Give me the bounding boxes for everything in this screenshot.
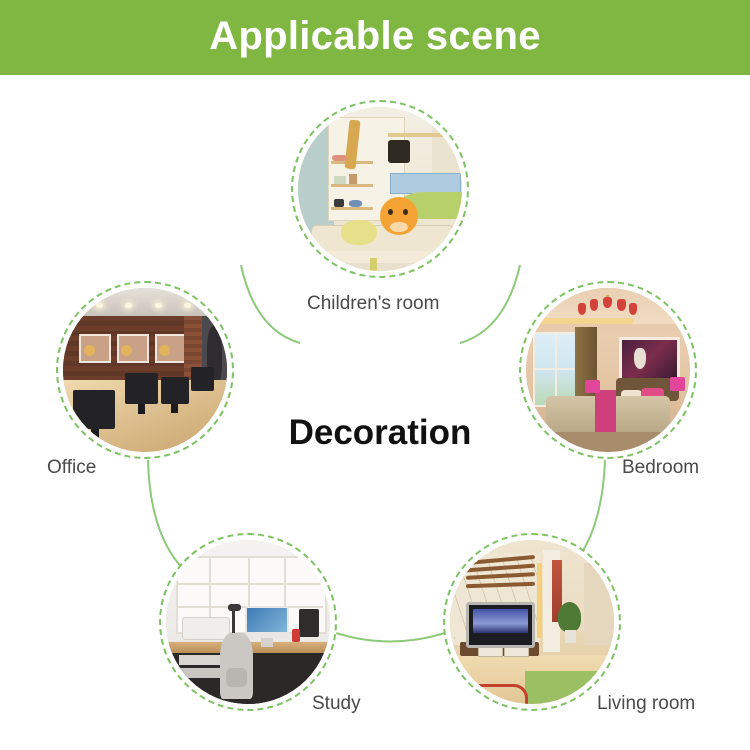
arc-office-children	[241, 265, 300, 343]
label-children-room: Children's room	[307, 293, 439, 315]
label-bedroom: Bedroom	[622, 457, 699, 479]
arc-children-bedroom	[460, 265, 520, 343]
photo-office	[63, 288, 227, 452]
photo-bedroom	[526, 288, 690, 452]
header-banner: Applicable scene	[0, 0, 750, 75]
label-study: Study	[312, 693, 361, 715]
node-children-room[interactable]	[291, 100, 469, 278]
center-label: Decoration	[255, 413, 505, 453]
photo-living-room	[450, 540, 614, 704]
page-title: Applicable scene	[0, 0, 750, 75]
photo-study	[166, 540, 330, 704]
node-bedroom[interactable]	[519, 281, 697, 459]
label-office: Office	[47, 457, 96, 479]
arc-study-living	[336, 633, 445, 642]
node-study[interactable]	[159, 533, 337, 711]
photo-children-room	[298, 107, 462, 271]
scene-diagram: Children's room Office	[0, 75, 750, 750]
applicable-scene-infographic: Applicable scene	[0, 0, 750, 750]
node-living-room[interactable]	[443, 533, 621, 711]
node-office[interactable]	[56, 281, 234, 459]
label-living-room: Living room	[597, 693, 695, 715]
